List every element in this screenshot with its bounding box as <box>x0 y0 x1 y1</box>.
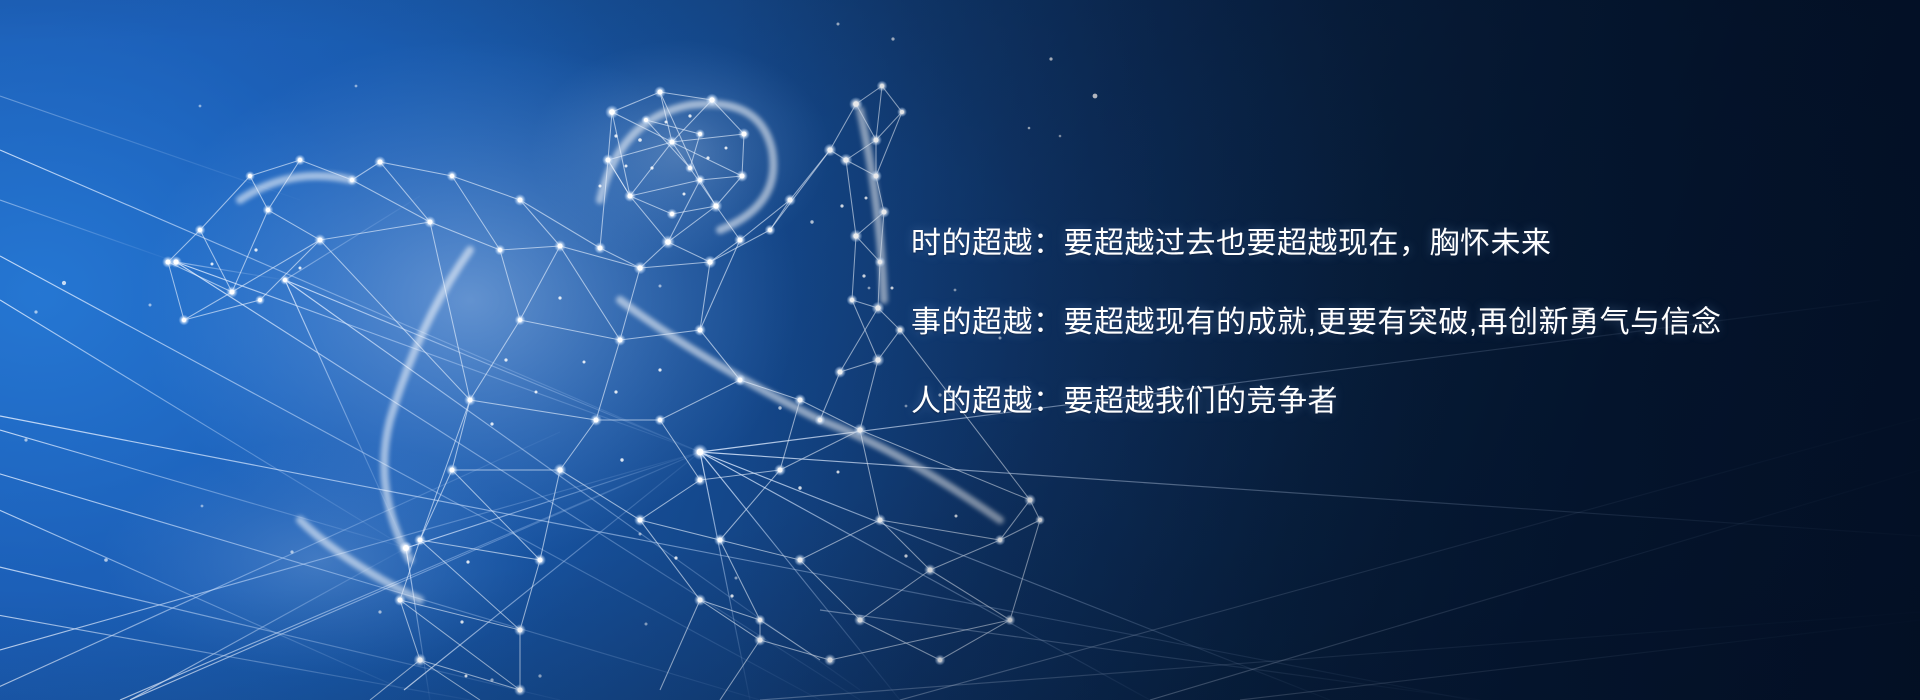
slogan-text-block: 时的超越：要超越过去也要超越现在，胸怀未来 事的超越：要超越现有的成就,更要有突… <box>911 228 1671 418</box>
slogan-line-3: 人的超越：要超越我们的竞争者 <box>911 386 1671 418</box>
slogan-line-2: 事的超越：要超越现有的成就,更要有突破,再创新勇气与信念 <box>911 307 1671 339</box>
hero-banner: 时的超越：要超越过去也要超越现在，胸怀未来 事的超越：要超越现有的成就,更要有突… <box>0 0 1920 700</box>
slogan-line-1: 时的超越：要超越过去也要超越现在，胸怀未来 <box>911 228 1671 260</box>
